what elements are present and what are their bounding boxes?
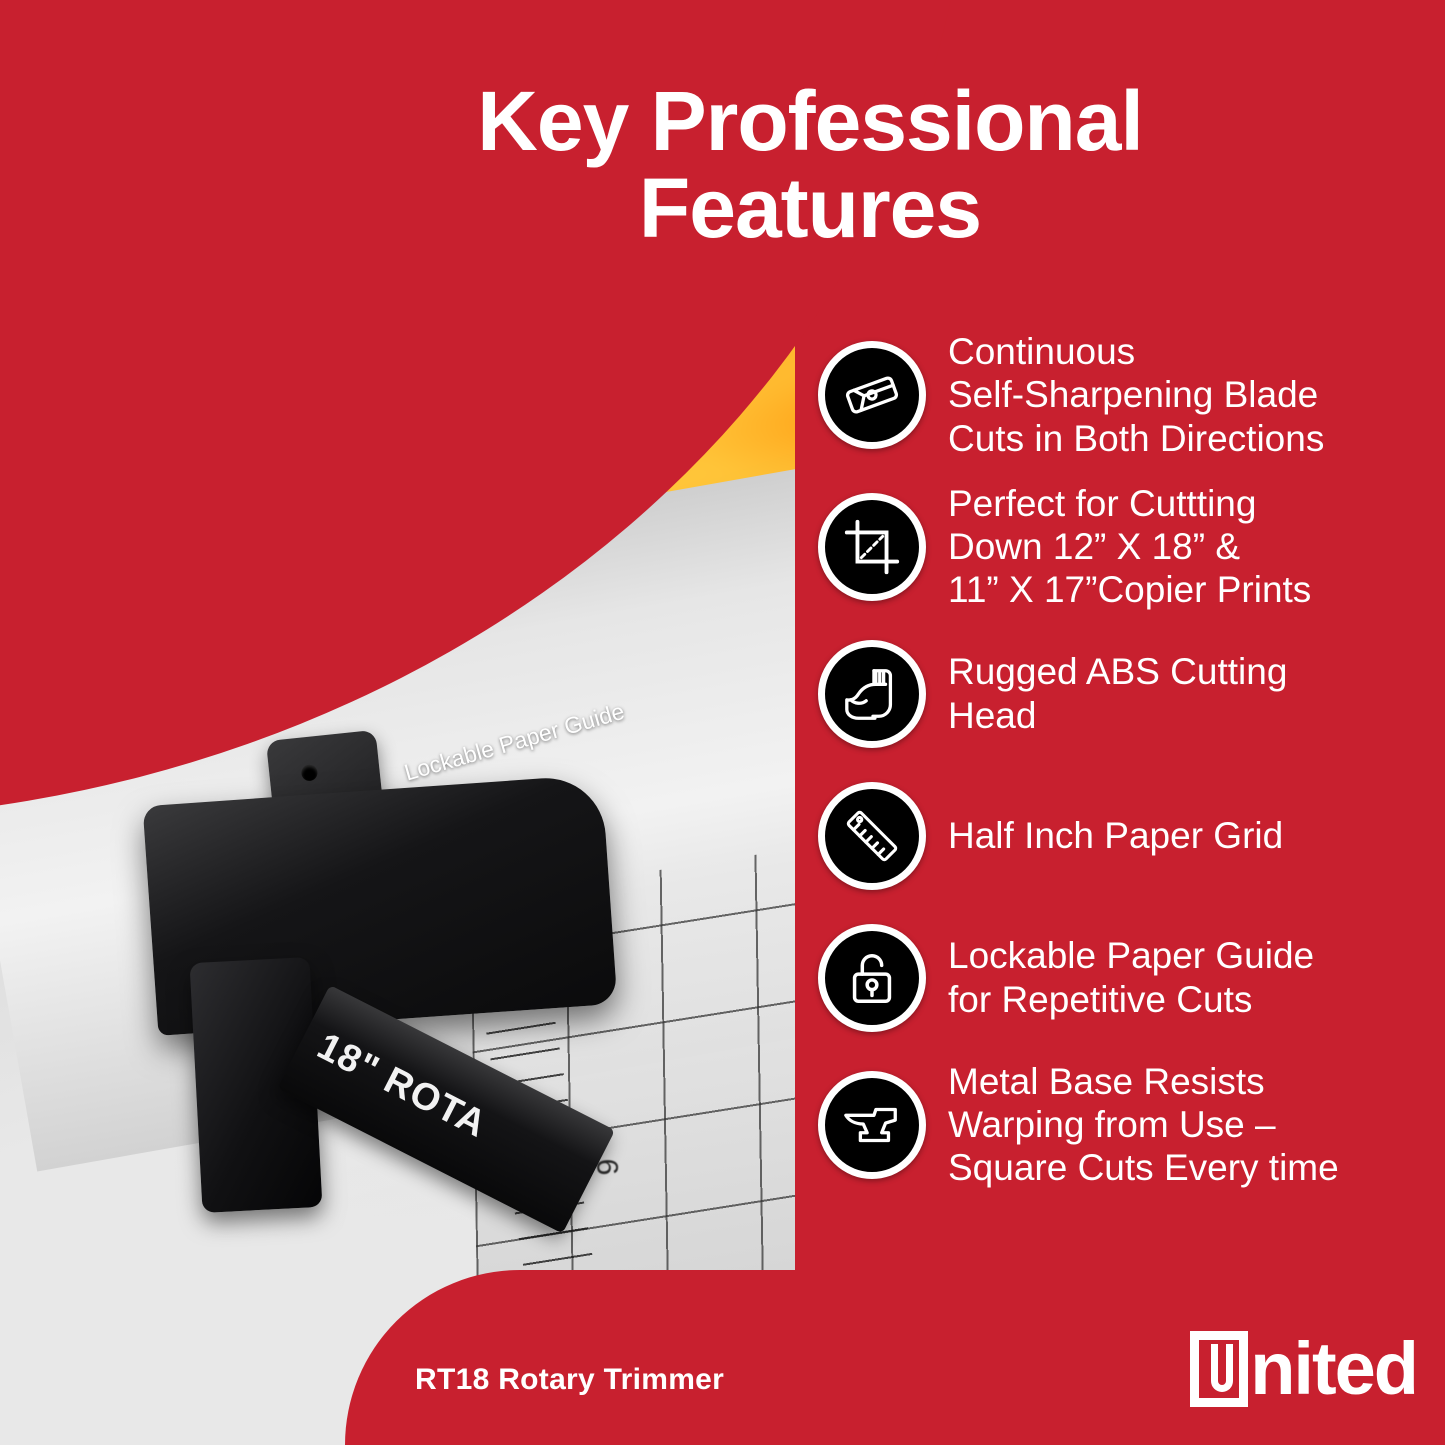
- feature-2-line-3: 11” X 17”Copier Prints: [948, 568, 1311, 611]
- ruler-icon: [818, 782, 926, 890]
- feature-item-2: Perfect for CutttingDown 12” X 18” &11” …: [818, 482, 1438, 612]
- headline-line-1: Key Professional: [477, 74, 1143, 168]
- feature-4-line-1: Half Inch Paper Grid: [948, 814, 1283, 857]
- feature-2-line-2: Down 12” X 18” &: [948, 525, 1311, 568]
- feature-item-5: Lockable Paper Guidefor Repetitive Cuts: [818, 918, 1438, 1038]
- feature-text-1: ContinuousSelf-Sharpening BladeCuts in B…: [948, 330, 1324, 460]
- feature-text-5: Lockable Paper Guidefor Repetitive Cuts: [948, 934, 1314, 1021]
- feature-text-3: Rugged ABS CuttingHead: [948, 650, 1287, 737]
- feature-text-2: Perfect for CutttingDown 12” X 18” &11” …: [948, 482, 1311, 612]
- united-wordmark: nited: [1250, 1337, 1417, 1401]
- pencil-sharpener-blade-icon: [818, 341, 926, 449]
- feature-1-line-3: Cuts in Both Directions: [948, 417, 1324, 460]
- feature-text-4: Half Inch Paper Grid: [948, 814, 1283, 857]
- infographic-canvas: 6 Cutting Capacity 10 Sheets 20lb Paper …: [0, 0, 1445, 1445]
- headline-line-2: Features: [360, 165, 1260, 252]
- feature-6-line-3: Square Cuts Every time: [948, 1146, 1339, 1189]
- united-u-paperclip-icon: [1190, 1331, 1248, 1407]
- feature-list: ContinuousSelf-Sharpening BladeCuts in B…: [818, 330, 1438, 1212]
- feature-item-6: Metal Base ResistsWarping from Use –Squa…: [818, 1060, 1438, 1190]
- feature-item-1: ContinuousSelf-Sharpening BladeCuts in B…: [818, 330, 1438, 460]
- feature-2-line-1: Perfect for Cuttting: [948, 482, 1311, 525]
- feature-1-line-2: Self-Sharpening Blade: [948, 373, 1324, 416]
- feature-5-line-1: Lockable Paper Guide: [948, 934, 1314, 977]
- feature-item-3: Rugged ABS CuttingHead: [818, 634, 1438, 754]
- feature-6-line-1: Metal Base Resists: [948, 1060, 1339, 1103]
- product-name-caption: RT18 Rotary Trimmer: [415, 1363, 724, 1397]
- crop-tool-icon: [818, 493, 926, 601]
- anvil-icon: [818, 1071, 926, 1179]
- united-logo: nited: [1190, 1331, 1417, 1407]
- feature-text-6: Metal Base ResistsWarping from Use –Squa…: [948, 1060, 1339, 1190]
- feature-item-4: Half Inch Paper Grid: [818, 776, 1438, 896]
- flexed-bicep-icon: [818, 640, 926, 748]
- feature-1-line-1: Continuous: [948, 330, 1324, 373]
- feature-5-line-2: for Repetitive Cuts: [948, 978, 1314, 1021]
- guide-hole-top: [301, 764, 319, 782]
- feature-3-line-1: Rugged ABS Cutting: [948, 650, 1287, 693]
- page-title: Key Professional Features: [360, 78, 1260, 251]
- feature-6-line-2: Warping from Use –: [948, 1103, 1339, 1146]
- feature-3-line-2: Head: [948, 694, 1287, 737]
- open-padlock-icon: [818, 924, 926, 1032]
